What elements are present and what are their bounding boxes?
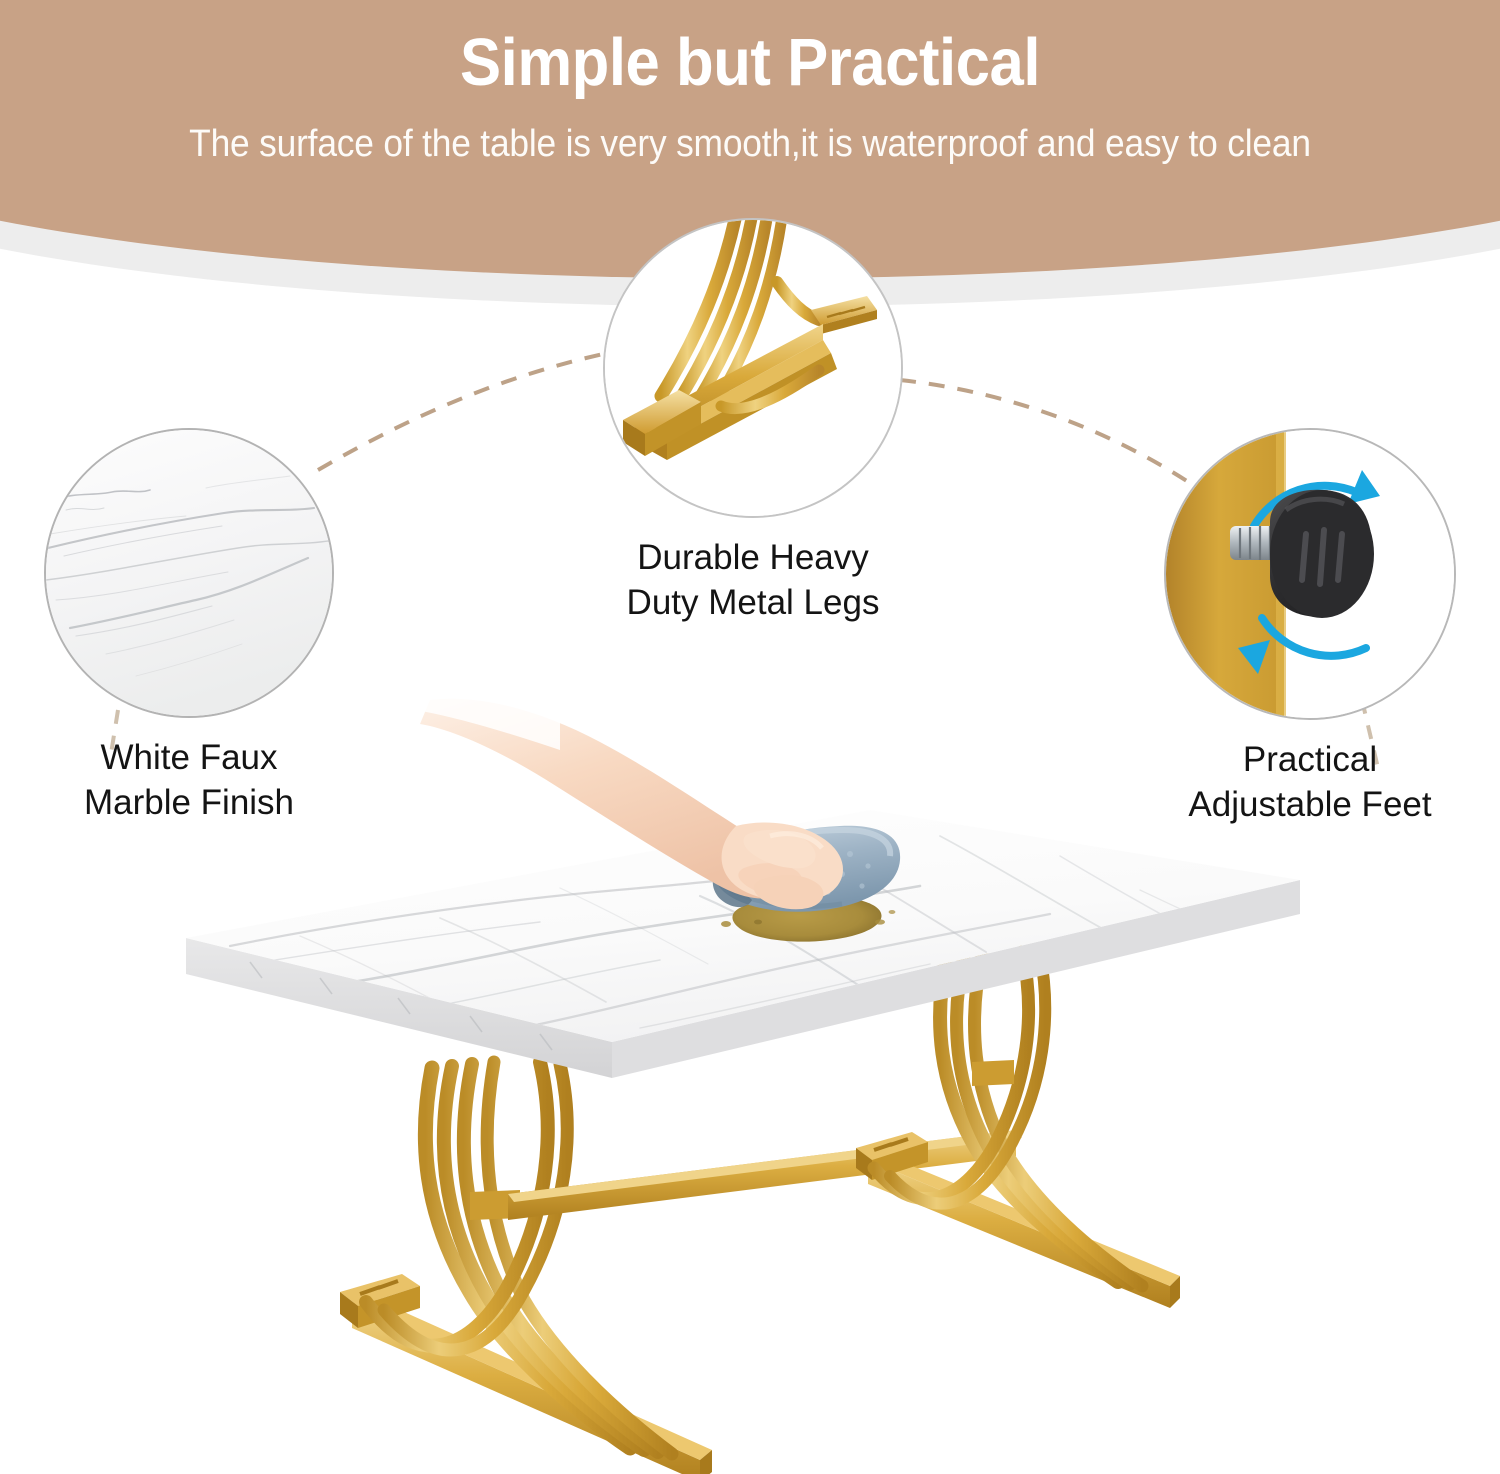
callout-legs-circle	[603, 218, 903, 518]
product-infographic: Simple but Practical The surface of the …	[0, 0, 1500, 1474]
rubber-knob-icon	[1270, 490, 1374, 618]
table-leg-left	[340, 1062, 712, 1474]
connector-left-icon	[318, 352, 612, 470]
page-title: Simple but Practical	[60, 28, 1440, 98]
gold-leg-icon	[605, 220, 903, 518]
page-subtitle: The surface of the table is very smooth,…	[53, 123, 1448, 166]
dining-table-illustration	[0, 690, 1500, 1474]
callout-legs-label: Durable Heavy Duty Metal Legs	[603, 536, 903, 626]
product-image	[0, 690, 1500, 1474]
callout-feet-circle	[1164, 428, 1456, 720]
connector-right-icon	[900, 380, 1196, 487]
callout-marble-circle	[44, 428, 334, 718]
adjustable-foot-icon	[1166, 430, 1456, 720]
marble-swatch-icon	[46, 430, 334, 718]
